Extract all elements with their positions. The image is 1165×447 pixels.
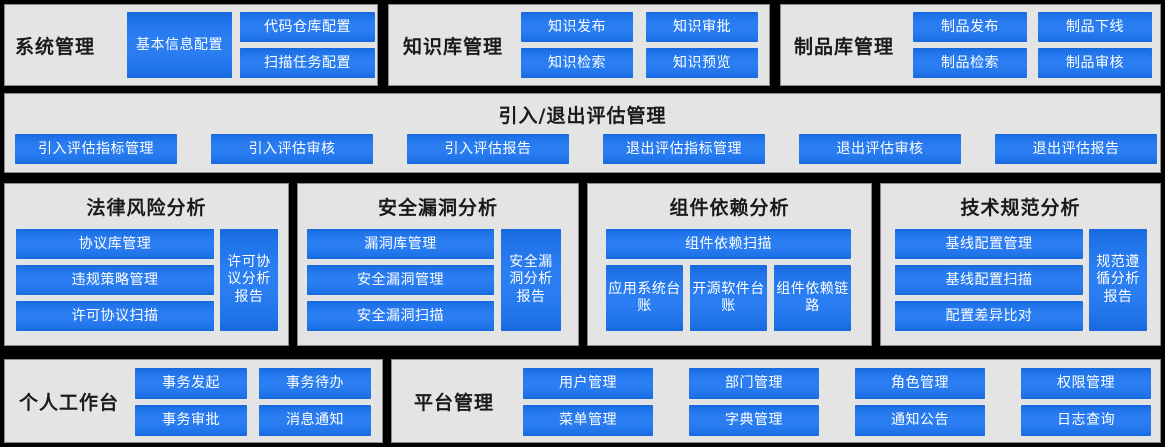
button-notice-announcement[interactable]: 通知公告 [855, 405, 985, 436]
panel-security-vulnerability-analysis: 安全漏洞分析 漏洞库管理 安全漏洞管理 安全漏洞扫描 安全漏洞分析报告 [297, 183, 579, 346]
button-product-publish[interactable]: 制品发布 [913, 12, 1027, 42]
panel-title-entry-exit-assessment: 引入/退出评估管理 [5, 101, 1160, 128]
panel-title-security-vulnerability-analysis: 安全漏洞分析 [298, 193, 578, 220]
panel-title-personal-workbench: 个人工作台 [19, 360, 119, 442]
button-menu-management[interactable]: 菜单管理 [523, 405, 653, 436]
button-basic-info-config[interactable]: 基本信息配置 [127, 12, 232, 78]
button-specification-compliance-analysis-report[interactable]: 规范遵循分析报告 [1089, 229, 1147, 331]
button-role-management[interactable]: 角色管理 [855, 368, 985, 399]
panel-title-component-dependency-analysis: 组件依赖分析 [588, 193, 871, 220]
button-violation-policy-management[interactable]: 违规策略管理 [16, 265, 214, 295]
button-product-audit[interactable]: 制品审核 [1038, 48, 1152, 78]
button-baseline-config-management[interactable]: 基线配置管理 [895, 229, 1083, 259]
button-affair-approval[interactable]: 事务审批 [135, 405, 247, 436]
panel-title-system-management: 系统管理 [15, 5, 95, 85]
panel-title-technical-specification-analysis: 技术规范分析 [881, 193, 1160, 220]
button-message-notification[interactable]: 消息通知 [259, 405, 371, 436]
button-knowledge-search[interactable]: 知识检索 [521, 48, 633, 78]
button-log-query[interactable]: 日志查询 [1021, 405, 1151, 436]
button-knowledge-publish[interactable]: 知识发布 [521, 12, 633, 42]
architecture-diagram: 系统管理 基本信息配置 代码仓库配置 扫描任务配置 知识库管理 知识发布 知识审… [0, 0, 1165, 447]
panel-product-repository-management: 制品库管理 制品发布 制品下线 制品检索 制品审核 [780, 4, 1161, 86]
panel-system-management: 系统管理 基本信息配置 代码仓库配置 扫描任务配置 [4, 4, 378, 86]
panel-title-legal-risk-analysis: 法律风险分析 [5, 193, 288, 220]
button-license-agreement-scan[interactable]: 许可协议扫描 [16, 301, 214, 331]
panel-title-knowledge-base-management: 知识库管理 [403, 5, 503, 85]
button-license-agreement-analysis-report[interactable]: 许可协议分析报告 [220, 229, 278, 331]
button-application-system-ledger[interactable]: 应用系统台账 [606, 265, 683, 331]
button-component-dependency-chain[interactable]: 组件依赖链路 [774, 265, 851, 331]
button-agreement-library-management[interactable]: 协议库管理 [16, 229, 214, 259]
panel-personal-workbench: 个人工作台 事务发起 事务待办 事务审批 消息通知 [4, 359, 383, 443]
panel-title-product-repository-management: 制品库管理 [794, 5, 894, 85]
button-security-vulnerability-scan[interactable]: 安全漏洞扫描 [307, 301, 494, 331]
panel-title-platform-management: 平台管理 [414, 360, 494, 442]
button-exit-assessment-indicator-management[interactable]: 退出评估指标管理 [603, 134, 765, 164]
button-affair-todo[interactable]: 事务待办 [259, 368, 371, 399]
button-knowledge-preview[interactable]: 知识预览 [646, 48, 758, 78]
panel-platform-management: 平台管理 用户管理 部门管理 角色管理 权限管理 菜单管理 字典管理 通知公告 … [391, 359, 1161, 443]
button-scan-task-config[interactable]: 扫描任务配置 [240, 48, 375, 78]
button-open-source-software-ledger[interactable]: 开源软件台账 [690, 265, 767, 331]
panel-knowledge-base-management: 知识库管理 知识发布 知识审批 知识检索 知识预览 [388, 4, 770, 86]
panel-technical-specification-analysis: 技术规范分析 基线配置管理 基线配置扫描 配置差异比对 规范遵循分析报告 [880, 183, 1161, 346]
button-security-vulnerability-analysis-report[interactable]: 安全漏洞分析报告 [501, 229, 561, 331]
button-security-vulnerability-management[interactable]: 安全漏洞管理 [307, 265, 494, 295]
button-code-repo-config[interactable]: 代码仓库配置 [240, 12, 375, 42]
panel-component-dependency-analysis: 组件依赖分析 组件依赖扫描 应用系统台账 开源软件台账 组件依赖链路 [587, 183, 872, 346]
button-product-offline[interactable]: 制品下线 [1038, 12, 1152, 42]
button-component-dependency-scan[interactable]: 组件依赖扫描 [606, 229, 851, 259]
button-department-management[interactable]: 部门管理 [689, 368, 819, 399]
button-permission-management[interactable]: 权限管理 [1021, 368, 1151, 399]
button-config-difference-comparison[interactable]: 配置差异比对 [895, 301, 1083, 331]
button-product-search[interactable]: 制品检索 [913, 48, 1027, 78]
button-knowledge-approval[interactable]: 知识审批 [646, 12, 758, 42]
button-user-management[interactable]: 用户管理 [523, 368, 653, 399]
panel-entry-exit-assessment: 引入/退出评估管理 引入评估指标管理 引入评估审核 引入评估报告 退出评估指标管… [4, 93, 1161, 173]
button-baseline-config-scan[interactable]: 基线配置扫描 [895, 265, 1083, 295]
button-affair-initiate[interactable]: 事务发起 [135, 368, 247, 399]
button-dictionary-management[interactable]: 字典管理 [689, 405, 819, 436]
button-exit-assessment-report[interactable]: 退出评估报告 [995, 134, 1157, 164]
button-entry-assessment-report[interactable]: 引入评估报告 [407, 134, 569, 164]
button-vulnerability-library-management[interactable]: 漏洞库管理 [307, 229, 494, 259]
button-exit-assessment-review[interactable]: 退出评估审核 [799, 134, 961, 164]
panel-legal-risk-analysis: 法律风险分析 协议库管理 违规策略管理 许可协议扫描 许可协议分析报告 [4, 183, 289, 346]
button-entry-assessment-review[interactable]: 引入评估审核 [211, 134, 373, 164]
button-entry-assessment-indicator-management[interactable]: 引入评估指标管理 [15, 134, 177, 164]
